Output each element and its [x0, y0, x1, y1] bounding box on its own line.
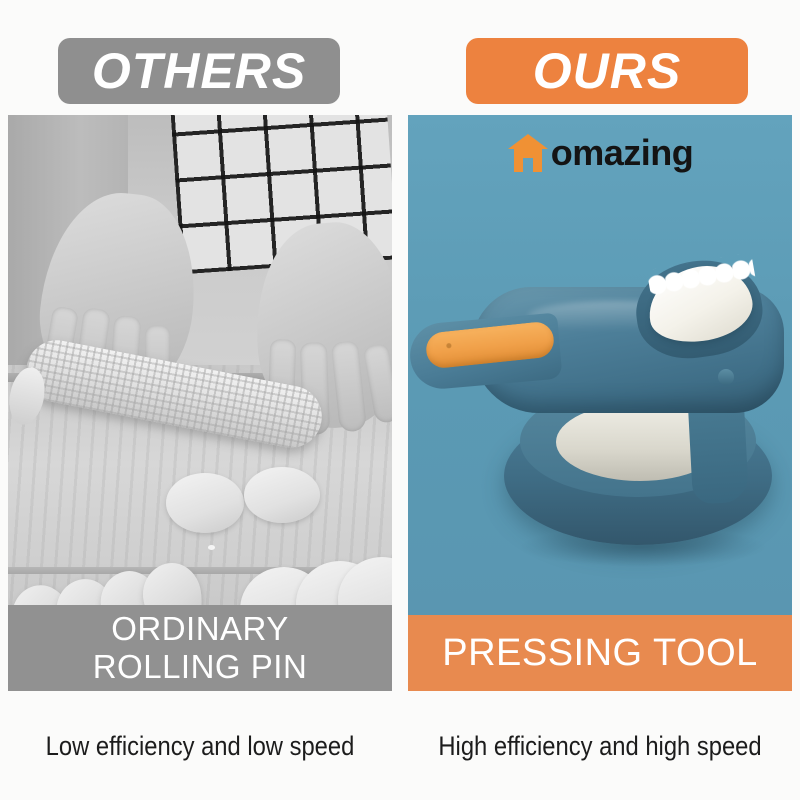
caption-ours: High efficiency and high speed — [431, 716, 769, 776]
label-bar-pressing-tool: PRESSING TOOL — [408, 615, 792, 691]
photo-flour-speck — [208, 545, 215, 550]
brand-name-text: omazing — [551, 135, 694, 171]
label-line-1: ORDINARY — [111, 610, 289, 648]
badge-ours: OURS — [466, 38, 748, 104]
label-bar-ordinary-rolling-pin: ORDINARY ROLLING PIN — [8, 605, 392, 691]
photo-finger — [331, 340, 367, 432]
house-letter-h-icon — [507, 133, 549, 173]
brand-logo: omazing — [408, 133, 792, 173]
pressing-tool-illustration — [408, 235, 792, 595]
photo-pressing-tool: omazing — [408, 115, 792, 691]
panel-ours: omazing PRESSING TOOL — [408, 115, 792, 691]
comparison-page: OTHERS OURS — [0, 0, 800, 800]
photo-dough-wrapper — [244, 467, 320, 523]
label-line-1: PRESSING TOOL — [442, 631, 758, 675]
badge-others: OTHERS — [58, 38, 340, 104]
panel-others: ORDINARY ROLLING PIN — [8, 115, 392, 691]
photo-finger — [363, 343, 392, 424]
photo-dough-wrapper — [166, 473, 244, 533]
caption-others: Low efficiency and low speed — [31, 716, 369, 776]
label-line-2: ROLLING PIN — [93, 648, 308, 686]
tool-side-knob — [718, 369, 734, 385]
